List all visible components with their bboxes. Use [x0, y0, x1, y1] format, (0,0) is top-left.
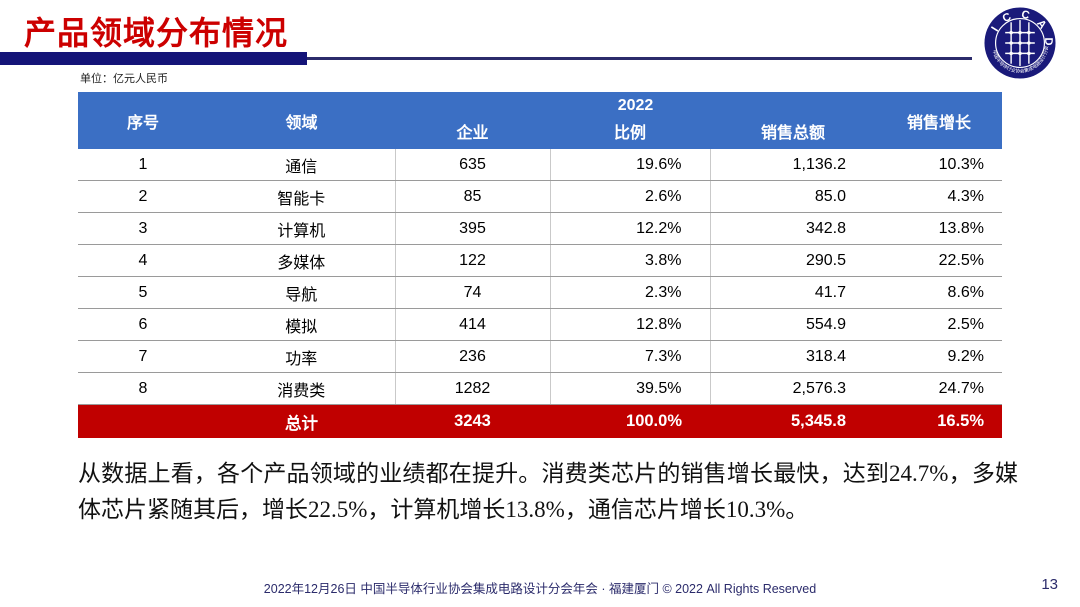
cell-sales: 41.7: [710, 277, 876, 309]
col-header-enterprises: 企业: [395, 119, 550, 149]
cell-no: 4: [78, 245, 208, 277]
cell-sales: 2,576.3: [710, 373, 876, 405]
table-row: 3 计算机 395 12.2% 342.8 13.8%: [78, 213, 1002, 245]
col-header-no: 序号: [78, 92, 208, 149]
title-rule-thick: [0, 52, 307, 65]
table-row: 6 模拟 414 12.8% 554.9 2.5%: [78, 309, 1002, 341]
cell-growth: 9.2%: [876, 341, 1002, 373]
cell-field: 计算机: [208, 213, 395, 245]
cell-field: 多媒体: [208, 245, 395, 277]
unit-note: 单位：亿元人民币: [80, 70, 168, 86]
page-number: 13: [1041, 576, 1058, 593]
cell-field: 模拟: [208, 309, 395, 341]
cell-ratio: 19.6%: [550, 149, 710, 181]
cell-enterprises: 74: [395, 277, 550, 309]
cell-enterprises: 395: [395, 213, 550, 245]
cell-total-sales: 5,345.8: [710, 405, 876, 439]
table-header-row-top: 序号 领域 2022 销售增长: [78, 92, 1002, 119]
cell-total-growth: 16.5%: [876, 405, 1002, 439]
cell-sales: 342.8: [710, 213, 876, 245]
iccad-logo: I C C A D 中国半导体行业协会集成电路设计分会: [983, 6, 1057, 80]
cell-sales: 1,136.2: [710, 149, 876, 181]
cell-no: 7: [78, 341, 208, 373]
cell-growth: 22.5%: [876, 245, 1002, 277]
cell-ratio: 3.8%: [550, 245, 710, 277]
product-field-distribution-table: 序号 领域 2022 销售增长 企业 比例 销售总额 1 通信 635 19.6…: [78, 92, 1002, 438]
cell-growth: 13.8%: [876, 213, 1002, 245]
cell-sales: 554.9: [710, 309, 876, 341]
cell-ratio: 39.5%: [550, 373, 710, 405]
table-row: 4 多媒体 122 3.8% 290.5 22.5%: [78, 245, 1002, 277]
cell-growth: 2.5%: [876, 309, 1002, 341]
cell-field: 消费类: [208, 373, 395, 405]
cell-no: 1: [78, 149, 208, 181]
cell-sales: 85.0: [710, 181, 876, 213]
col-header-field: 领域: [208, 92, 395, 149]
cell-field: 功率: [208, 341, 395, 373]
cell-field: 导航: [208, 277, 395, 309]
cell-ratio: 12.8%: [550, 309, 710, 341]
table-row: 8 消费类 1282 39.5% 2,576.3 24.7%: [78, 373, 1002, 405]
table-row: 1 通信 635 19.6% 1,136.2 10.3%: [78, 149, 1002, 181]
cell-enterprises: 85: [395, 181, 550, 213]
table-row: 2 智能卡 85 2.6% 85.0 4.3%: [78, 181, 1002, 213]
footer-text: 2022年12月26日 中国半导体行业协会集成电路设计分会年会 · 福建厦门 ©…: [0, 578, 1080, 597]
page-title: 产品领域分布情况: [24, 8, 288, 54]
cell-enterprises: 236: [395, 341, 550, 373]
cell-total-no: [78, 405, 208, 439]
cell-no: 3: [78, 213, 208, 245]
col-header-growth: 销售增长: [876, 92, 1002, 149]
cell-enterprises: 122: [395, 245, 550, 277]
cell-total-label: 总计: [208, 405, 395, 439]
table-row: 5 导航 74 2.3% 41.7 8.6%: [78, 277, 1002, 309]
cell-ratio: 2.6%: [550, 181, 710, 213]
title-rule-thin: [307, 57, 972, 60]
body-paragraph: 从数据上看，各个产品领域的业绩都在提升。消费类芯片的销售增长最快，达到24.7%…: [78, 456, 1018, 528]
cell-no: 5: [78, 277, 208, 309]
cell-enterprises: 635: [395, 149, 550, 181]
cell-total-enterprises: 3243: [395, 405, 550, 439]
cell-growth: 8.6%: [876, 277, 1002, 309]
cell-sales: 290.5: [710, 245, 876, 277]
table-header: 序号 领域 2022 销售增长 企业 比例 销售总额: [78, 92, 1002, 149]
footer: 2022年12月26日 中国半导体行业协会集成电路设计分会年会 · 福建厦门 ©…: [0, 578, 1080, 600]
cell-ratio: 7.3%: [550, 341, 710, 373]
cell-field: 通信: [208, 149, 395, 181]
cell-ratio: 12.2%: [550, 213, 710, 245]
cell-no: 8: [78, 373, 208, 405]
table-total-row: 总计 3243 100.0% 5,345.8 16.5%: [78, 405, 1002, 439]
cell-enterprises: 1282: [395, 373, 550, 405]
cell-enterprises: 414: [395, 309, 550, 341]
cell-no: 6: [78, 309, 208, 341]
cell-sales: 318.4: [710, 341, 876, 373]
cell-field: 智能卡: [208, 181, 395, 213]
cell-no: 2: [78, 181, 208, 213]
table-body: 1 通信 635 19.6% 1,136.2 10.3% 2 智能卡 85 2.…: [78, 149, 1002, 438]
col-header-year: 2022: [395, 92, 876, 119]
cell-growth: 24.7%: [876, 373, 1002, 405]
cell-ratio: 2.3%: [550, 277, 710, 309]
cell-total-ratio: 100.0%: [550, 405, 710, 439]
col-header-sales: 销售总额: [710, 119, 876, 149]
col-header-ratio: 比例: [550, 119, 710, 149]
cell-growth: 4.3%: [876, 181, 1002, 213]
cell-growth: 10.3%: [876, 149, 1002, 181]
table-row: 7 功率 236 7.3% 318.4 9.2%: [78, 341, 1002, 373]
